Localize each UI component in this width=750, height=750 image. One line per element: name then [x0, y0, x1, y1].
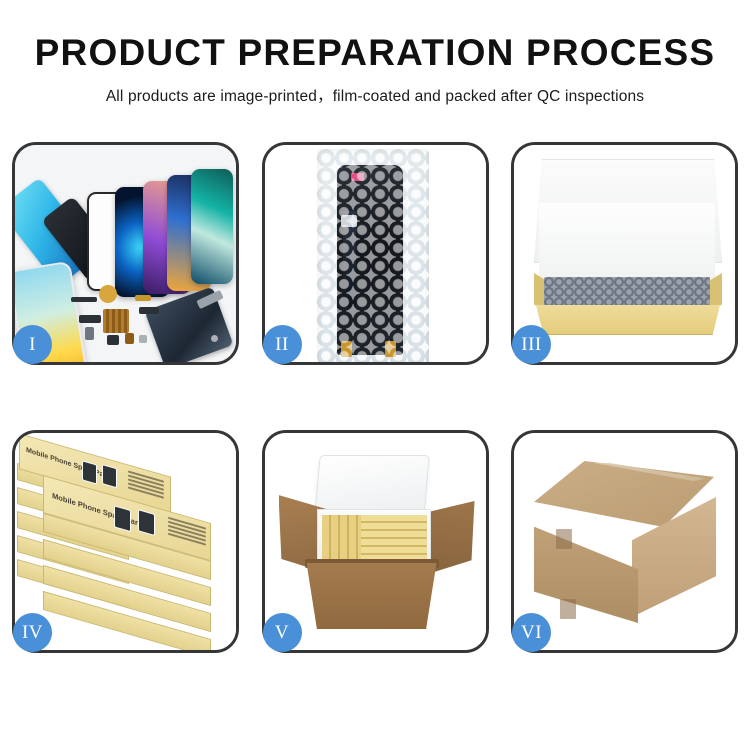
step-panel-3[interactable]: III: [511, 142, 738, 365]
phone-screen-green: [191, 169, 233, 284]
button-flex-part: [135, 295, 151, 301]
packed-boxes-row-right: [361, 515, 427, 561]
step-panel-6[interactable]: VI: [511, 430, 738, 653]
process-steps-grid: I II III: [12, 142, 738, 676]
step-6-image: [514, 433, 735, 650]
step-badge-2: II: [263, 325, 302, 364]
retail-box-phone-graphic-front-1: [114, 505, 131, 532]
bubble-wrap-bag: [317, 149, 429, 362]
flex-cable-part: [71, 297, 97, 302]
step-1-image: [15, 145, 236, 362]
step-badge-3: III: [512, 325, 551, 364]
screw-part-2: [211, 335, 218, 342]
screw-part: [139, 335, 147, 343]
step-badge-5: V: [263, 613, 302, 652]
step-panel-2[interactable]: II: [262, 142, 489, 365]
carton-tab-lower: [560, 599, 576, 619]
pink-qc-sticker: [351, 173, 364, 181]
sim-tray-part: [85, 327, 94, 340]
page-subtitle: All products are image-printed，film-coat…: [0, 84, 750, 106]
chip-array-part: [103, 309, 129, 333]
carton-front-face: [534, 511, 638, 623]
step-badge-4: IV: [13, 613, 52, 652]
step-panel-5[interactable]: V: [262, 430, 489, 653]
gold-connector-right: [385, 341, 396, 357]
carton-tab-upper: [556, 529, 572, 549]
retail-box-phone-graphic-front-2: [138, 509, 155, 536]
box-front-yellow: [536, 305, 720, 335]
step-badge-1: I: [13, 325, 52, 364]
step-4-image: Mobile Phone Spare Parts Mobile Phone Sp…: [15, 433, 236, 650]
volume-flex-part: [139, 307, 159, 314]
lcd-driver-chip: [341, 215, 357, 227]
retail-box-phone-graphic-rear-1: [82, 460, 97, 484]
step-badge-6: VI: [512, 613, 551, 652]
vibrator-part: [125, 333, 134, 344]
page-title: PRODUCT PREPARATION PROCESS: [0, 34, 750, 73]
camera-module-part: [107, 335, 119, 345]
step-panel-4[interactable]: Mobile Phone Spare Parts Mobile Phone Sp…: [12, 430, 239, 653]
styrofoam-lid: [314, 455, 429, 517]
step-panel-1[interactable]: I: [12, 142, 239, 365]
retail-box-phone-graphic-rear-2: [102, 464, 117, 488]
gold-connector-left: [341, 341, 352, 357]
speaker-part: [99, 285, 117, 303]
step-5-image: [265, 433, 486, 650]
page-header: PRODUCT PREPARATION PROCESS All products…: [0, 0, 750, 106]
foam-sheet-white: [539, 203, 715, 287]
step-3-image: [514, 145, 735, 362]
carton-front-panel: [307, 563, 437, 629]
step-2-image: [265, 145, 486, 362]
connector-part: [79, 315, 101, 323]
